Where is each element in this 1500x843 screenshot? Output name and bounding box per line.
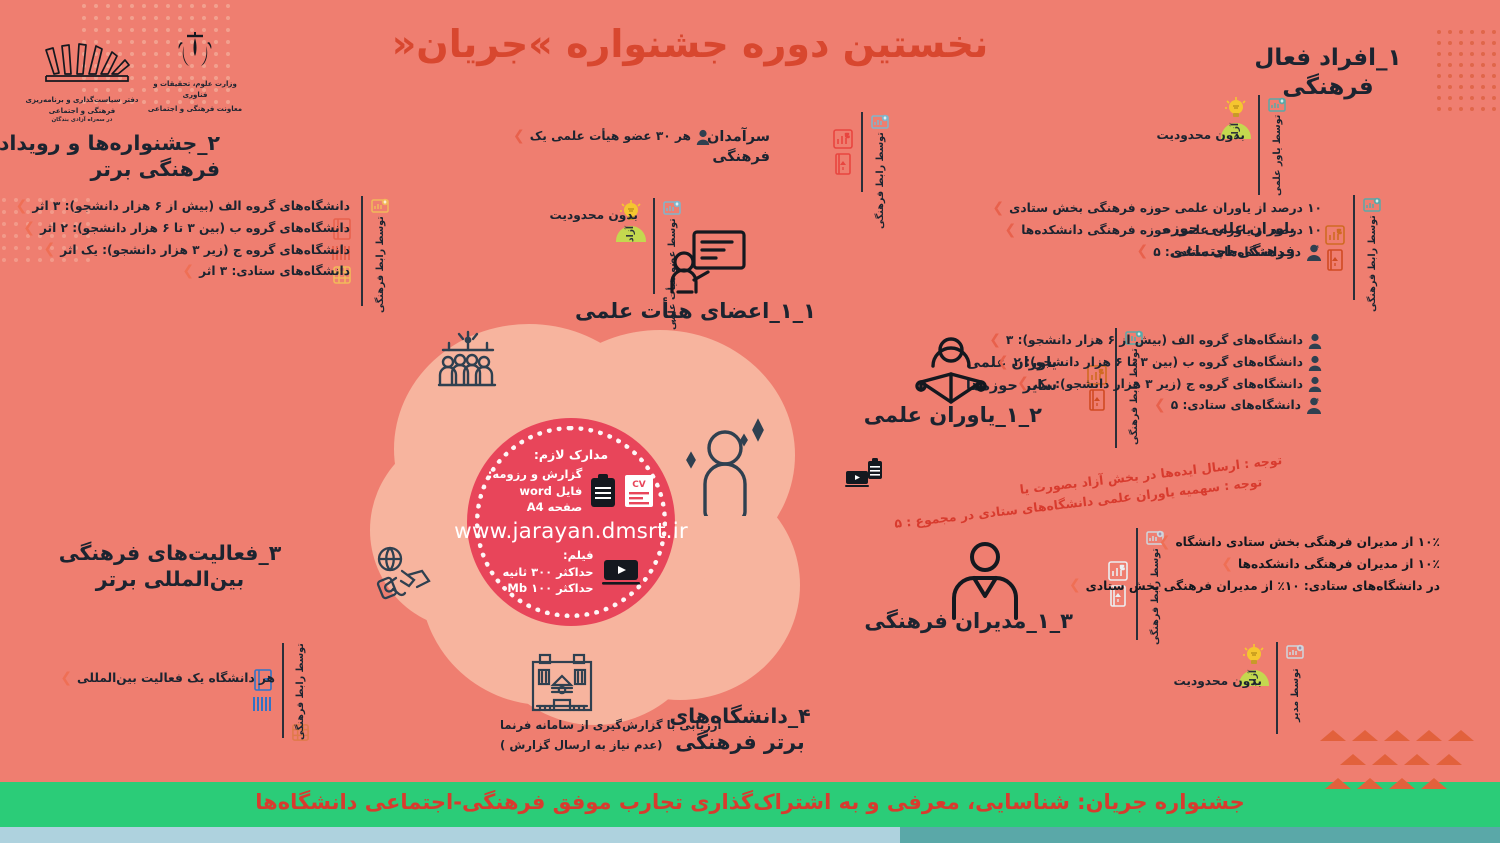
- bullet-item: هر ۳۰ عضو هیأت علمی یک❯: [511, 126, 710, 148]
- faculty-icon-column: توسط رابط فرهنگی: [870, 112, 890, 192]
- person-silhouette-icon: [1308, 333, 1322, 349]
- scholar-free-badge-column: آزاد: [1221, 95, 1251, 195]
- svg-text:ج: ج: [845, 131, 849, 138]
- upload-to-system-icon: [1267, 95, 1287, 113]
- red-book-icon: [1326, 248, 1344, 272]
- scholar-free-rule: [1258, 95, 1260, 195]
- scholar-cultural-media-icons: ج: [1324, 195, 1346, 300]
- faculty-bullet-list: هر ۳۰ عضو هیأت علمی یک❯: [511, 126, 710, 148]
- international-detail-group: توسط رابط فرهنگی: [251, 643, 310, 738]
- bullet-item: دانشگاه‌های گروه ج (زیر ۳ هزار دانشجو): …: [982, 373, 1322, 395]
- international-by-relation-label: توسط رابط فرهنگی: [295, 643, 306, 721]
- festivals-by-relation-label: توسط رابط فرهنگی: [375, 216, 386, 290]
- scholar-cultural-relation-group: توسط رابط فرهنگی ج: [1324, 195, 1382, 300]
- festival-website-url[interactable]: www.jarayan.dmsrt.ir: [454, 519, 688, 544]
- bullet-item: بدون محدودیت: [1173, 672, 1262, 691]
- scholar-free-icon-column: توسط یاور علمی: [1267, 95, 1287, 195]
- page-title: نخستین دوره جشنواره »جریان«: [370, 22, 1010, 66]
- lightbulb-idea-icon: [1223, 95, 1249, 121]
- person-reading-book-icon: [913, 336, 989, 408]
- upload-to-system-icon: [662, 198, 682, 216]
- svg-text:*: *: [1315, 397, 1319, 405]
- bullet-item: دانشگاه‌های گروه ب (بین ۳ تا ۶ هزار دانش…: [20, 218, 350, 240]
- office-logo-caption: دفتر سیاست‌گذاری و برنامه‌ریزی فرهنگی و …: [22, 95, 142, 116]
- faculty-no-limit: بدون محدودیت: [549, 206, 638, 225]
- audience-crowd-icon: [437, 330, 499, 392]
- ministry-line-1: وزارت علوم، تحقیقات و فناوری: [140, 79, 250, 100]
- required-docs-label: مدارک لازم:: [534, 447, 608, 462]
- person-silhouette-icon: *: [1306, 244, 1322, 261]
- international-media-icons: [251, 643, 275, 738]
- bullet-item: دانشگاه‌های ستادی: ۳ اثر❯: [20, 261, 350, 283]
- festivals-bullet-list: دانشگاه‌های گروه الف (بیش از ۶ هزار دانش…: [20, 196, 350, 283]
- bullet-item: ۱۰٪ از مدیران فرهنگی بخش ستادی دانشگاه❯: [1040, 532, 1440, 554]
- svg-text:*: *: [1315, 244, 1319, 252]
- managers-free-rule: [1276, 642, 1278, 734]
- video-player-icon: [845, 470, 869, 488]
- scholar-free-by-label: توسط یاور علمی: [1272, 115, 1283, 191]
- scholar-cultural-bullet-list: ۱۰ درصد از یاوران علمی حوزه فرهنگی بخش س…: [992, 198, 1322, 263]
- managers-by-manager-label: توسط مدیر: [1290, 662, 1301, 728]
- bullet-item: هر دانشگاه یک فعالیت بین‌المللی❯: [25, 668, 275, 690]
- bullet-item: ۱۰٪ از مدیران فرهنگی دانشکده‌ها❯: [1040, 554, 1440, 576]
- person-silhouette-icon: *: [1306, 397, 1322, 414]
- cv-document-icon: CV: [624, 474, 654, 508]
- svg-text:CV: CV: [632, 480, 646, 490]
- scholar-free-group: توسط یاور علمی آزاد: [1221, 95, 1287, 195]
- international-icon-column: توسط رابط فرهنگی: [291, 643, 310, 738]
- bullet-item: دانشگاه‌های گروه الف (بیش از ۶ هزار دانش…: [20, 196, 350, 218]
- upload-to-system-icon: [370, 196, 390, 214]
- university-building-icon: [528, 648, 596, 714]
- chart-bars-icon: ج: [832, 128, 854, 150]
- chevron-decor-bottom-right: [1325, 778, 1447, 789]
- upload-to-system-icon: [1362, 195, 1382, 213]
- infographic-canvas: مدارک لازم: CV گزارش و رزومه: فایل word …: [0, 0, 1500, 843]
- faculty-by-relation-label: توسط رابط فرهنگی: [875, 132, 886, 186]
- chevron-decor-bottom-right: [1340, 754, 1462, 765]
- managers-bullet-list: ۱۰٪ از مدیران فرهنگی بخش ستادی دانشگاه❯ …: [1040, 532, 1440, 597]
- teacher-presenting-icon: [668, 228, 746, 296]
- clipboard-icon: [867, 458, 883, 480]
- chart-bars-icon: ج: [1324, 224, 1346, 246]
- faculty-label: سرآمدان فرهنگی: [707, 128, 770, 167]
- scholar-no-limit: بدون محدودیت: [1156, 126, 1245, 145]
- clipboard-icon: [590, 474, 616, 508]
- scholar-cultural-by-relation-label: توسط رابط فرهنگی: [1367, 215, 1378, 295]
- lightbulb-idea-icon: [1241, 642, 1267, 668]
- required-documents-seal: مدارک لازم: CV گزارش و رزومه: فایل word …: [467, 418, 675, 626]
- bullet-item: بدون محدودیت: [549, 206, 638, 225]
- ministry-of-science-logo: وزارت علوم، تحقیقات و فناوری معاونت فرهن…: [140, 30, 250, 115]
- note-media-icons: [845, 458, 905, 492]
- bullet-item: ۱۰ درصد از یاوران علمی حوزه فرهنگی دانشک…: [992, 220, 1322, 242]
- bullet-item: * در دانشگاه‌های ستادی: ۵❯: [992, 241, 1322, 263]
- subsection-heading-managers: ۳_۱_مدیران فرهنگی: [864, 608, 1073, 635]
- ministry-line-2: معاونت فرهنگی و اجتماعی: [140, 104, 250, 115]
- festivals-icon-column: توسط رابط فرهنگی: [370, 196, 390, 306]
- office-logo-caption-2: در سه‌راه آزادی بندگان: [22, 116, 142, 124]
- international-bullet-list: هر دانشگاه یک فعالیت بین‌المللی❯: [25, 668, 275, 690]
- section-heading-festivals: ۲_جشنواره‌ها و رویدادهای فرهنگی برتر: [0, 130, 220, 182]
- top-universities-note: ارزیابی با گزارش‌گیری از سامانه فرنما (ع…: [500, 716, 730, 755]
- chevron-decor-bottom-right: [1320, 730, 1474, 741]
- faculty-relation-group: توسط رابط فرهنگی ج: [832, 112, 890, 192]
- scholar-cultural-icon-column: توسط رابط فرهنگی: [1362, 195, 1382, 300]
- upload-to-system-icon: [1285, 642, 1305, 660]
- scholar-cultural-rule: [1353, 195, 1355, 300]
- cultural-planning-office-logo: دفتر سیاست‌گذاری و برنامه‌ریزی فرهنگی و …: [22, 30, 142, 124]
- festivals-rule: [361, 196, 363, 306]
- faculty-rule: [861, 112, 863, 192]
- faculty-free-rule: [653, 198, 655, 294]
- managers-free-icon-column: توسط مدیر: [1285, 642, 1305, 734]
- person-with-sparkles-icon: [683, 412, 767, 516]
- bullet-item: بدون محدودیت: [1156, 126, 1245, 145]
- bullet-item: دانشگاه‌های گروه ب (بین ۳ تا ۶ هزار دانش…: [982, 352, 1322, 374]
- international-rule: [282, 643, 284, 738]
- person-silhouette-icon: [1308, 376, 1322, 392]
- section-heading-international: ۳_فعالیت‌های فرهنگی بین‌المللی برتر: [30, 540, 310, 592]
- footer-tagline: جشنواره جریان: شناسایی، معرفی و به اشترا…: [0, 790, 1500, 814]
- red-book-icon: [834, 152, 852, 176]
- film-requirements: فیلم: حداکثر ۳۰۰ ثانیه حداکثر ۱۰۰ Mb: [502, 547, 593, 597]
- free-badge: آزاد: [616, 226, 646, 242]
- handshake-globe-icon: [372, 545, 438, 605]
- bullet-item: در دانشگاه‌های ستادی: ۱۰٪ از مدیران فرهن…: [1040, 575, 1440, 597]
- bullet-item: ۱۰ درصد از یاوران علمی حوزه فرهنگی بخش س…: [992, 198, 1322, 220]
- faculty-media-icons: ج: [832, 112, 854, 192]
- blue-bars-icon: [251, 694, 275, 714]
- report-requirements: گزارش و رزومه: فایل word صفحه A4: [488, 466, 583, 516]
- bullet-item: دانشگاه‌های گروه ج (زیر ۳ هزار دانشجو): …: [20, 239, 350, 261]
- footer-strip-teal: [900, 827, 1500, 843]
- person-silhouette-icon: [1308, 355, 1322, 371]
- bullet-item: دانشگاه‌های گروه الف (بیش از ۶ هزار دانش…: [982, 330, 1322, 352]
- subsection-heading-faculty: ۱_۱_اعضای هیأت علمی: [575, 298, 816, 325]
- managers-no-limit: بدون محدودیت: [1173, 672, 1262, 691]
- subsection-heading-scholar-helpers: ۲_۱_یاوران علمی: [864, 402, 1042, 429]
- svg-text:ج: ج: [1337, 227, 1341, 234]
- video-player-icon: [602, 558, 640, 586]
- person-silhouette-icon: [696, 129, 710, 145]
- upload-to-system-icon: [870, 112, 890, 130]
